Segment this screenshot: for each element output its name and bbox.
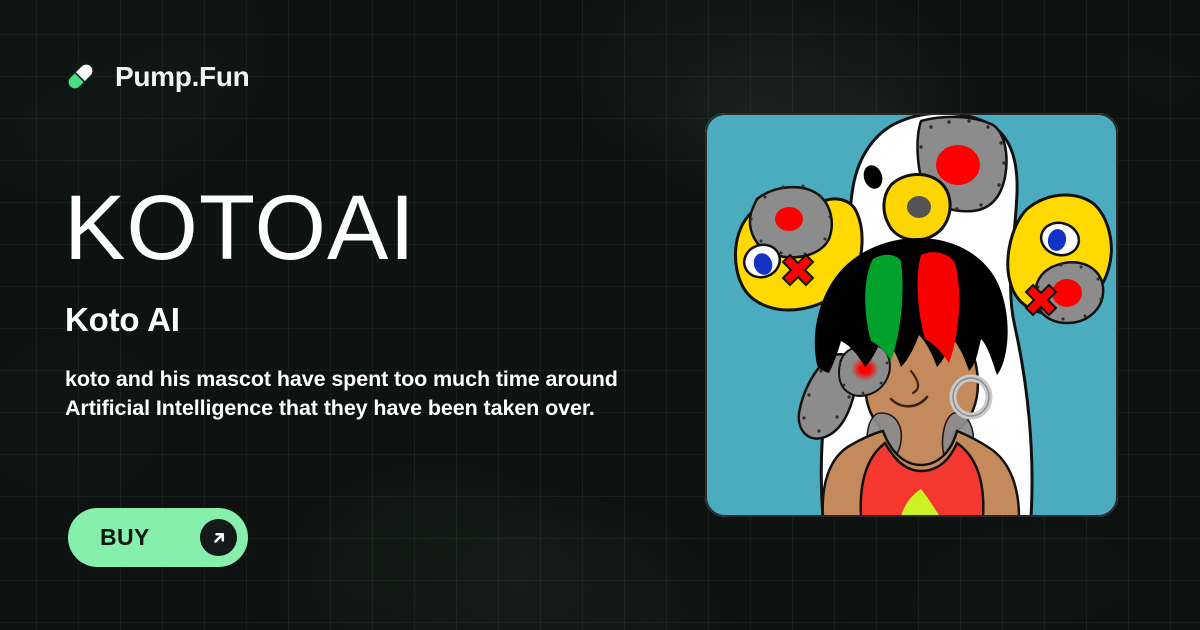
pill-capsule-icon [66,57,100,96]
arrow-up-right-icon [200,519,237,556]
brand-logo[interactable]: Pump.Fun [66,57,249,96]
beak-nostril [907,196,931,218]
red-spot [936,145,980,185]
brand-name: Pump.Fun [115,63,249,91]
red-spot [775,207,803,231]
page-subtitle: Koto AI [65,303,180,336]
page-title: KOTOAI [64,182,416,274]
buy-button-label: BUY [100,526,150,549]
page-description: koto and his mascot have spent too much … [65,365,645,423]
mascot-artwork [705,113,1118,517]
buy-button[interactable]: BUY [68,508,248,567]
page-content: Pump.Fun KOTOAI Koto AI koto and his mas… [0,0,1200,630]
red-spot [1052,279,1082,307]
